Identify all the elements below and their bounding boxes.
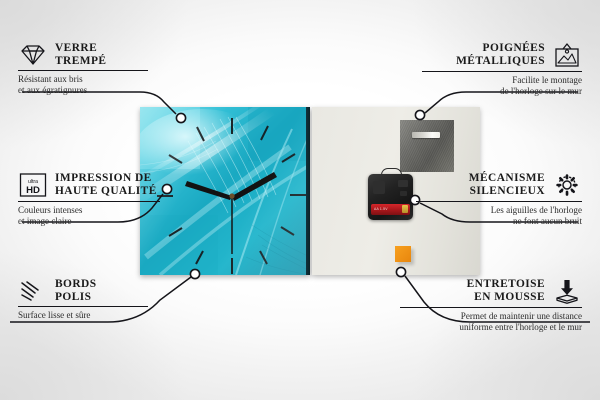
movement-detail-b xyxy=(398,180,408,187)
feature-title: MÉCANISME SILENCIEUX xyxy=(469,172,545,197)
feature-desc-line2: et aux égratignures xyxy=(18,85,166,96)
gear-icon xyxy=(552,172,582,198)
feature-desc-line2: uniforme entre l'horloge et le mur xyxy=(400,322,582,333)
feature-title: BORDS POLIS xyxy=(55,278,97,303)
hour-hand xyxy=(185,181,232,200)
movement-housing: AA 1.5V xyxy=(368,174,413,220)
movement-detail-c xyxy=(400,191,407,196)
feature-header: POIGNÉES MÉTALLIQUES xyxy=(422,42,582,68)
feature-header: BORDS POLIS xyxy=(18,278,166,303)
ultra-hd-icon: ultra HD xyxy=(18,172,48,198)
feature-header: VERRE TREMPÉ xyxy=(18,42,166,67)
feature-entretoise-en-mousse: ENTRETOISE EN MOUSSE Permet de maintenir… xyxy=(400,278,582,332)
clock-panel-edge xyxy=(306,107,310,275)
feature-title: IMPRESSION DE HAUTE QUALITÉ xyxy=(55,172,157,197)
feature-desc-line2: de l'horloge sur le mur xyxy=(422,86,582,97)
hanger-slot xyxy=(412,132,440,138)
infographic-canvas: AA 1.5V xyxy=(0,0,600,400)
picture-hanger-icon xyxy=(552,42,582,68)
feature-header: MÉCANISME SILENCIEUX xyxy=(416,172,582,198)
feature-impression-haute-qualite: ultra HD IMPRESSION DE HAUTE QUALITÉ Cou… xyxy=(18,172,170,226)
feature-divider xyxy=(416,201,582,202)
battery: AA 1.5V xyxy=(371,204,410,215)
clock-center-cap xyxy=(229,193,234,198)
feature-title: POIGNÉES MÉTALLIQUES xyxy=(456,42,545,67)
feature-poignees-metalliques: POIGNÉES MÉTALLIQUES Facilite le montage… xyxy=(422,42,582,96)
feature-desc-line1: Permet de maintenir une distance xyxy=(400,311,582,322)
feature-title: ENTRETOISE EN MOUSSE xyxy=(467,278,545,303)
feature-divider xyxy=(400,307,582,308)
feature-divider xyxy=(18,70,148,71)
feature-divider xyxy=(18,201,160,202)
metal-hanger-plate xyxy=(400,120,454,172)
feature-desc-line1: Surface lisse et sûre xyxy=(18,310,166,321)
feature-divider xyxy=(422,71,582,72)
foam-spacer-icon xyxy=(552,278,582,304)
feature-desc-line1: Couleurs intenses xyxy=(18,205,170,216)
feature-header: ultra HD IMPRESSION DE HAUTE QUALITÉ xyxy=(18,172,170,198)
feature-desc-line1: Résistant aux bris xyxy=(18,74,166,85)
feature-divider xyxy=(18,306,148,307)
minute-hand xyxy=(232,172,277,201)
feature-bords-polis: BORDS POLIS Surface lisse et sûre xyxy=(18,278,166,321)
foam-spacer-part xyxy=(395,246,411,262)
clock-hands xyxy=(185,172,277,254)
feature-header: ENTRETOISE EN MOUSSE xyxy=(400,278,582,304)
ultra-hd-icon-large-text: HD xyxy=(26,185,40,196)
polished-edges-icon xyxy=(18,279,48,303)
feature-verre-trempe: VERRE TREMPÉ Résistant aux bris et aux é… xyxy=(18,42,166,95)
clock-movement: AA 1.5V xyxy=(368,174,413,220)
feature-desc-line1: Facilite le montage xyxy=(422,75,582,86)
battery-positive-terminal xyxy=(402,205,408,213)
movement-detail-a xyxy=(373,181,385,194)
feature-desc-line1: Les aiguilles de l'horloge xyxy=(416,205,582,216)
battery-label: AA 1.5V xyxy=(374,207,388,211)
feature-title: VERRE TREMPÉ xyxy=(55,42,106,67)
feature-desc-line2: et image claire xyxy=(18,216,170,227)
feature-mecanisme-silencieux: MÉCANISME SILENCIEUX Les aiguilles de l'… xyxy=(416,172,582,226)
diamond-icon xyxy=(18,43,48,67)
feature-desc-line2: ne font aucun bruit xyxy=(416,216,582,227)
